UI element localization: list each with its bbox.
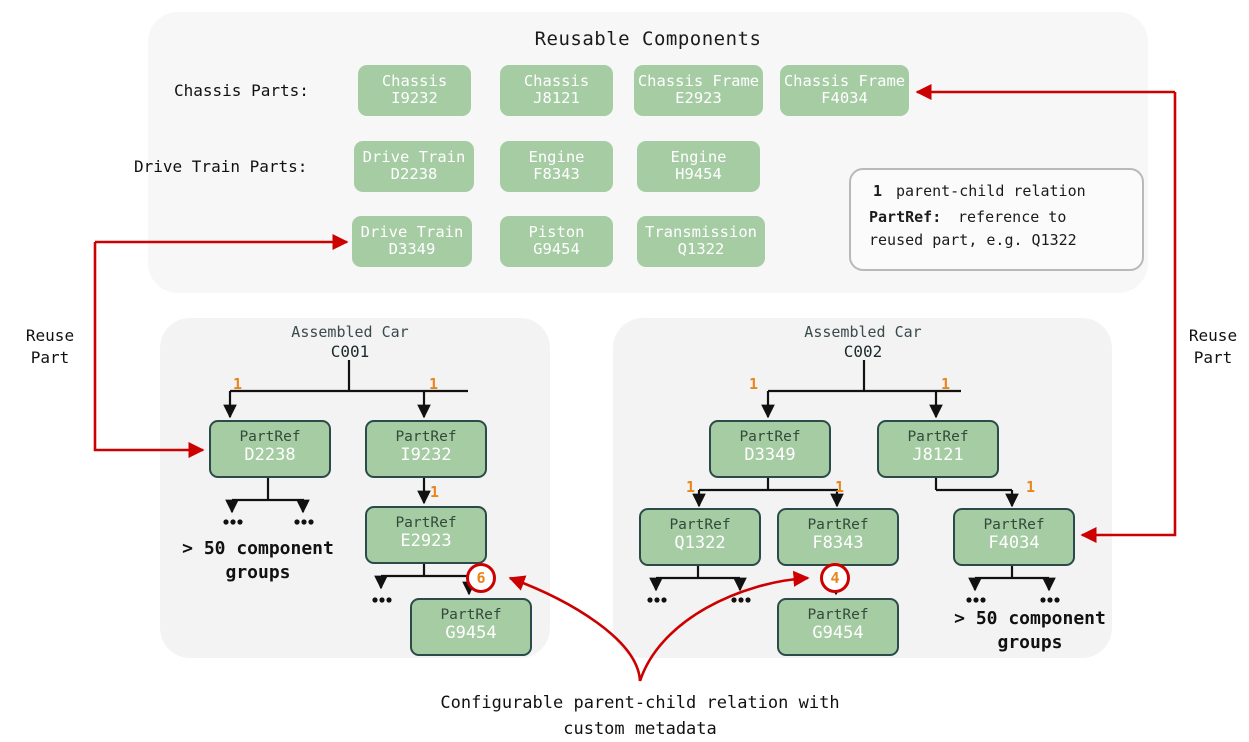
node-ref-label: PartRef — [641, 518, 759, 533]
node-partref-q1322[interactable]: PartRef Q1322 — [639, 508, 761, 566]
node-part-id: E2923 — [367, 531, 485, 551]
node-ref-label: PartRef — [879, 430, 997, 445]
node-part-id: F8343 — [779, 533, 897, 553]
node-part-id: F4034 — [955, 533, 1073, 553]
diagram-caption: Configurable parent-child relation with … — [330, 690, 950, 742]
edge-label-8: 1 — [1026, 478, 1035, 496]
group-note-line-2: groups — [225, 562, 290, 583]
node-partref-g9454-c002[interactable]: PartRef G9454 — [777, 598, 899, 656]
reuse-part-label-right: Reuse Part — [1180, 325, 1246, 369]
node-part-id: D2238 — [211, 445, 329, 465]
reuse-line-1: Reuse — [26, 326, 74, 345]
metadata-badge-4[interactable]: 4 — [820, 563, 850, 593]
node-ref-label: PartRef — [779, 608, 897, 623]
node-ref-label: PartRef — [211, 430, 329, 445]
node-part-id: G9454 — [412, 623, 530, 643]
node-part-id: D3349 — [711, 445, 829, 465]
reuse-line-2: Part — [31, 348, 70, 367]
node-partref-f4034[interactable]: PartRef F4034 — [953, 508, 1075, 566]
edge-label-1: 1 — [233, 375, 242, 393]
group-note-line-2: groups — [997, 632, 1062, 653]
node-part-id: I9232 — [367, 445, 485, 465]
edge-label-2: 1 — [429, 375, 438, 393]
reuse-line-1: Reuse — [1189, 326, 1237, 345]
node-partref-e2923[interactable]: PartRef E2923 — [365, 506, 487, 564]
caption-line-2: custom metadata — [563, 719, 717, 739]
reuse-arrow-right — [1082, 92, 1175, 535]
caption-line-1: Configurable parent-child relation with — [440, 693, 839, 713]
group-note-line-1: > 50 component — [182, 538, 334, 559]
reuse-arrow-left — [95, 242, 203, 450]
node-partref-d2238[interactable]: PartRef D2238 — [209, 420, 331, 478]
node-ref-label: PartRef — [367, 430, 485, 445]
node-ref-label: PartRef — [955, 518, 1073, 533]
node-ref-label: PartRef — [711, 430, 829, 445]
node-partref-j8121[interactable]: PartRef J8121 — [877, 420, 999, 478]
reuse-line-2: Part — [1194, 348, 1233, 367]
component-groups-note-c001: > 50 component groups — [158, 537, 358, 585]
node-partref-d3349[interactable]: PartRef D3349 — [709, 420, 831, 478]
node-part-id: J8121 — [879, 445, 997, 465]
node-partref-f8343[interactable]: PartRef F8343 — [777, 508, 899, 566]
edge-label-5: 1 — [941, 375, 950, 393]
edge-label-6: 1 — [686, 478, 695, 496]
node-ref-label: PartRef — [779, 518, 897, 533]
node-part-id: Q1322 — [641, 533, 759, 553]
edge-label-4: 1 — [749, 375, 758, 393]
component-groups-note-c002: > 50 component groups — [930, 607, 1130, 655]
edge-label-7: 1 — [835, 478, 844, 496]
node-ref-label: PartRef — [367, 516, 485, 531]
node-ref-label: PartRef — [412, 608, 530, 623]
edge-label-3: 1 — [430, 483, 439, 501]
reuse-part-label-left: Reuse Part — [8, 325, 92, 369]
group-note-line-1: > 50 component — [954, 608, 1106, 629]
metadata-badge-6[interactable]: 6 — [466, 563, 496, 593]
node-part-id: G9454 — [779, 623, 897, 643]
node-partref-i9232[interactable]: PartRef I9232 — [365, 420, 487, 478]
node-partref-g9454-c001[interactable]: PartRef G9454 — [410, 598, 532, 656]
